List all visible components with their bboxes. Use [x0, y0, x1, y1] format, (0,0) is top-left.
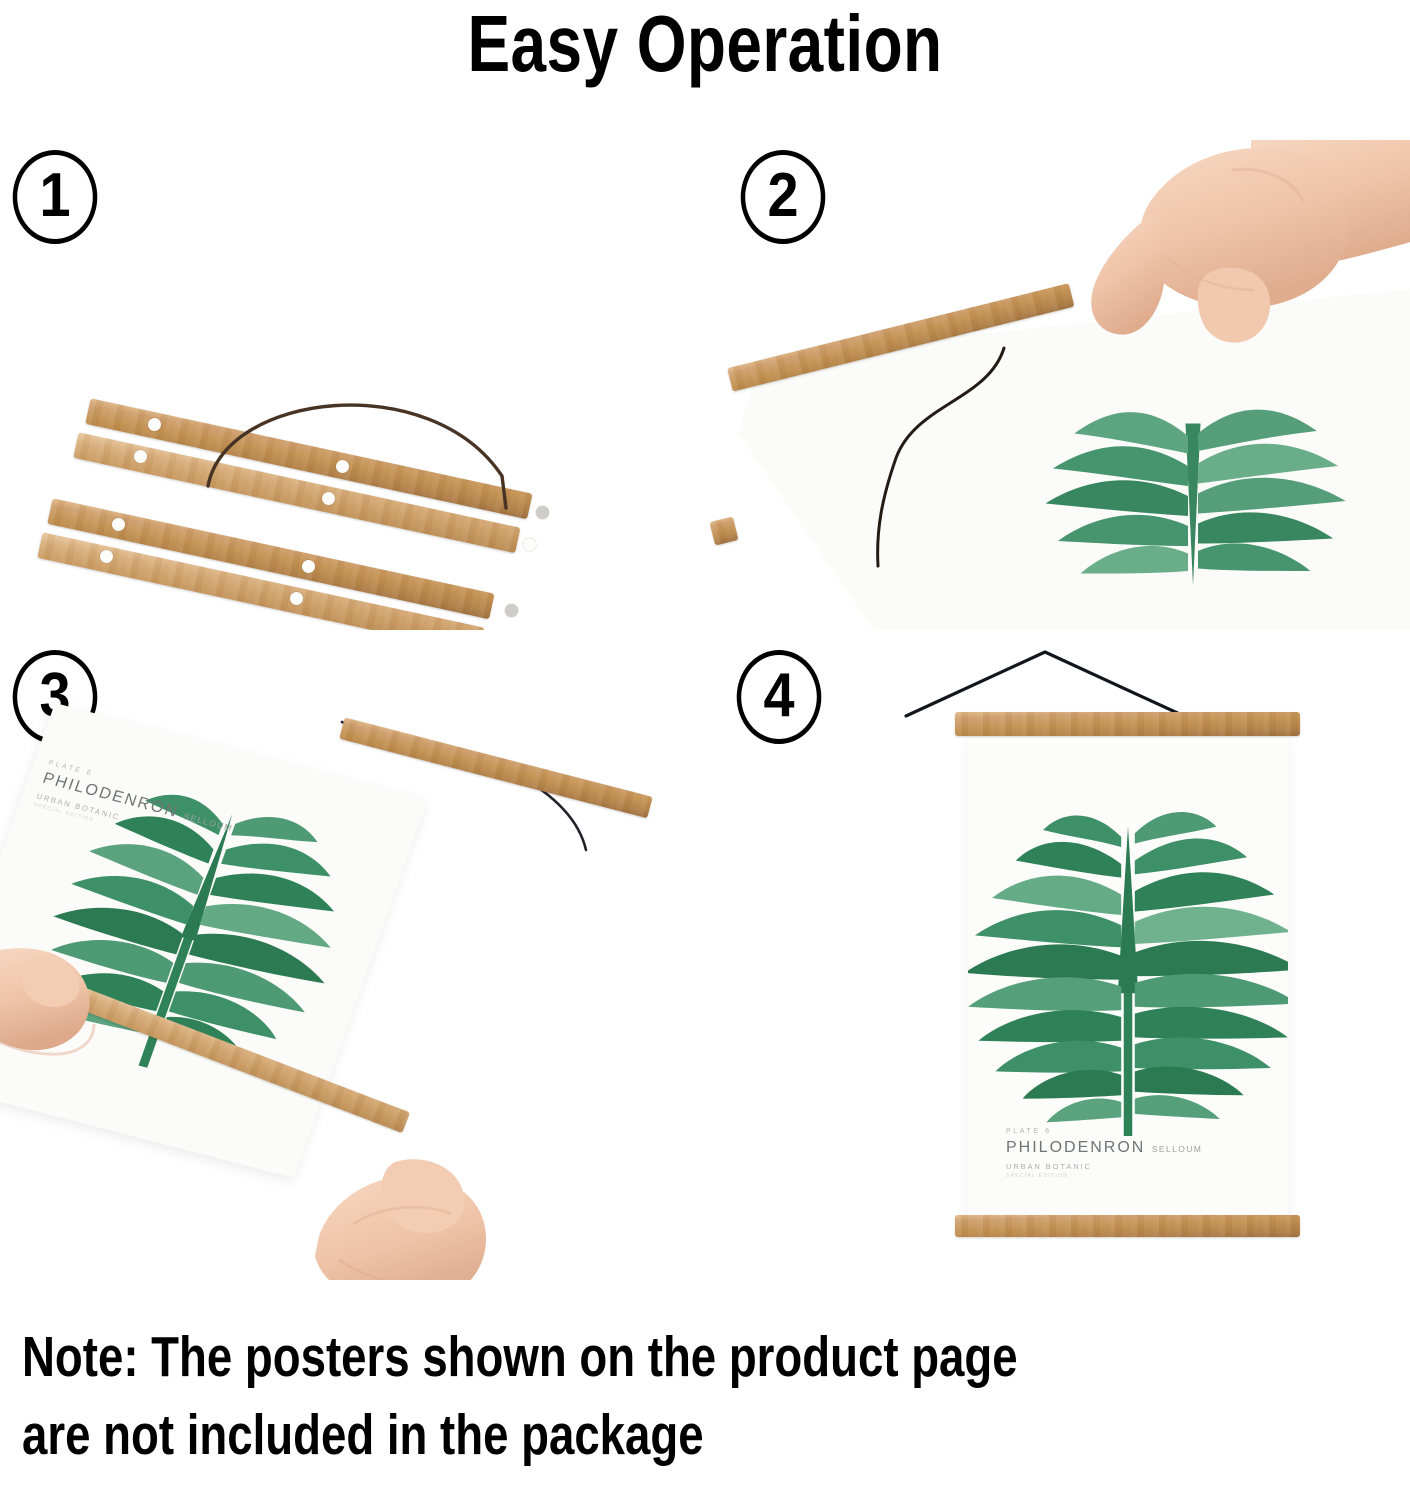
magnet-dot	[100, 550, 113, 563]
magnet-dot	[536, 506, 549, 519]
poster-caption: PLATE 6 PHILODENRON SELLOUM URBAN BOTANI…	[1006, 1128, 1202, 1179]
infographic-page: Easy Operation 1 2	[0, 0, 1410, 1497]
magnet-dot	[134, 450, 147, 463]
magnet-dot	[322, 492, 335, 505]
poster-plate-label: PLATE 6	[1006, 1128, 1202, 1135]
poster-title: PHILODENRON SELLOUM	[1006, 1139, 1202, 1157]
hand-left	[0, 940, 140, 1110]
magnet-dot	[336, 460, 349, 473]
step-4-illustration: PLATE 6 PHILODENRON SELLOUM URBAN BOTANI…	[710, 640, 1410, 1280]
poster-brand: URBAN BOTANIC	[1006, 1162, 1202, 1171]
magnet-dot	[523, 538, 536, 551]
note-text: Note: The posters shown on the product p…	[22, 1318, 1126, 1474]
hand-holding-rail	[1000, 140, 1410, 440]
magnet-dot	[290, 592, 303, 605]
magnet-dot	[302, 560, 315, 573]
hanging-cord	[130, 358, 550, 548]
magnet-dot	[112, 518, 125, 531]
magnet-dot	[505, 604, 518, 617]
wood-rail-bottom	[955, 1215, 1300, 1237]
step-3-illustration: PLATE 6 PHILODENRON SELLOUM URBAN BOTANI…	[0, 640, 700, 1280]
wood-rail-top	[955, 712, 1300, 736]
hanging-cord	[330, 700, 670, 870]
page-title: Easy Operation	[141, 2, 1269, 86]
step-2-illustration	[710, 140, 1410, 630]
hand-right	[275, 1140, 515, 1280]
magnet-dot	[148, 418, 161, 431]
note-line-1: Note: The posters shown on the product p…	[22, 1318, 1126, 1396]
step-1-illustration	[0, 140, 700, 630]
note-line-2: are not included in the package	[22, 1396, 1126, 1474]
poster-edition: SPECIAL EDITION	[1006, 1173, 1202, 1179]
wood-rail-end-cap	[710, 516, 739, 545]
hanging-cord	[890, 648, 1200, 718]
poster-sheet: PLATE 6 PHILODENRON SELLOUM URBAN BOTANI…	[968, 736, 1288, 1221]
